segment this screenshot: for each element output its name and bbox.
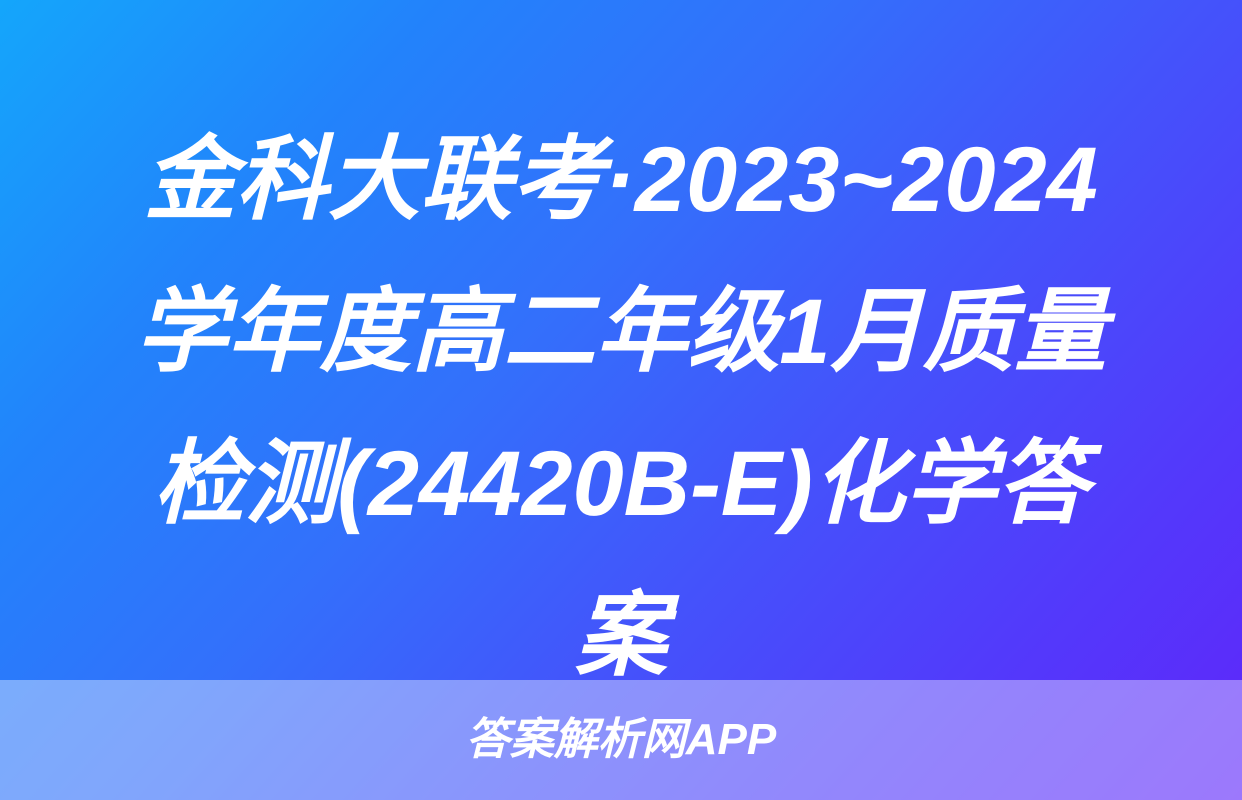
title-line-2: 学年度高二年级1月质量 [0,256,1242,408]
title-line-1: 金科大联考·2023~2024 [0,104,1242,256]
app-watermark-label: 答案解析网APP [466,718,776,762]
answer-poster: 金科大联考·2023~2024 学年度高二年级1月质量 检测(24420B-E)… [0,0,1242,800]
title-line-3: 检测(24420B-E)化学答 [0,408,1242,560]
poster-title-block: 金科大联考·2023~2024 学年度高二年级1月质量 检测(24420B-E)… [0,0,1242,712]
app-watermark-banner: 答案解析网APP [0,680,1242,800]
